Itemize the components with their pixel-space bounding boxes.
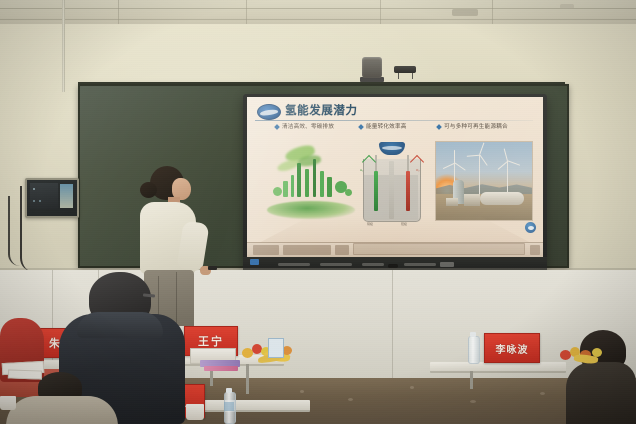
ptz-camera-icon xyxy=(362,57,382,78)
slide-bullet-1: 清洁高效、零碳排放 xyxy=(275,122,334,130)
desk-leg xyxy=(470,371,473,389)
juice-box xyxy=(268,338,284,358)
bottle-cap-right xyxy=(470,332,476,337)
cell-label-hydrogen: H₂ xyxy=(360,168,363,172)
bullet-diamond-icon xyxy=(274,124,280,130)
attendee-hood xyxy=(77,312,163,338)
university-emblem-icon xyxy=(257,104,281,120)
nameplate-right: 李咏波 xyxy=(484,333,540,363)
power-cable xyxy=(20,186,34,272)
ceiling xyxy=(0,0,636,26)
cell-label-oxygen: O₂ xyxy=(416,168,420,172)
taskbar-more-button[interactable] xyxy=(530,245,540,255)
desk-leg xyxy=(246,364,249,394)
nameplate-text: 王宁 xyxy=(198,333,224,349)
slide-title: 氢能发展潜力 xyxy=(285,102,358,118)
display-logo xyxy=(440,262,454,267)
nameplate-text: 李咏波 xyxy=(496,341,529,356)
power-cable-2 xyxy=(8,196,20,266)
slide-bullet-3: 可与多种可再生能源耦合 xyxy=(437,122,508,130)
classroom-presentation-photo: 氢能发展潜力 清洁高效、零碳排放 能量转化效率高 可与多种可再生能源耦合 xyxy=(0,0,636,424)
microphone-icon xyxy=(394,66,416,73)
cell-cap-logo xyxy=(379,142,405,155)
bullet-diamond-icon xyxy=(436,124,442,130)
bullet-diamond-icon xyxy=(358,124,364,130)
plant-building-2 xyxy=(446,198,458,206)
wind-farm-hydrogen-storage-photo xyxy=(435,141,533,221)
paper-cup xyxy=(186,404,204,420)
presenter-remote xyxy=(208,266,217,270)
taskbar-button-2[interactable] xyxy=(283,245,331,255)
hydrogen-storage-tank xyxy=(480,192,524,205)
display-brand-badge xyxy=(250,259,259,265)
ceiling-light xyxy=(560,4,574,9)
ppt-taskbar[interactable] xyxy=(247,242,543,257)
presenter-hair-bun xyxy=(140,182,157,198)
paper-cup-2 xyxy=(0,396,16,410)
taskbar-button-1[interactable] xyxy=(253,245,279,255)
attendee-lower-left xyxy=(0,372,120,424)
fruit-plate-right xyxy=(558,344,606,364)
slide-bullet-2: 能量转化效率高 xyxy=(359,122,407,130)
taskbar-strip[interactable] xyxy=(353,243,525,255)
presentation-slide: 氢能发展潜力 清洁高效、零碳排放 能量转化效率高 可与多种可再生能源耦合 xyxy=(247,97,543,257)
ceiling-vent xyxy=(452,9,478,16)
bottle-cap xyxy=(226,388,232,393)
taskbar-button-3[interactable] xyxy=(335,245,349,255)
desk-right xyxy=(430,362,566,373)
wall-conduit xyxy=(62,0,65,92)
folder-pink xyxy=(204,366,238,371)
wind-turbine-icon xyxy=(470,146,490,198)
green-eco-factory-illustration xyxy=(267,145,355,225)
bottle-label xyxy=(224,402,234,411)
slide-watermark-badge xyxy=(525,222,536,233)
documents-left-2 xyxy=(8,369,42,379)
water-bottle-right xyxy=(468,336,480,364)
smart-display-screen[interactable]: 氢能发展潜力 清洁高效、零碳排放 能量转化效率高 可与多种可再生能源耦合 xyxy=(247,97,543,257)
plant-building xyxy=(464,194,480,206)
